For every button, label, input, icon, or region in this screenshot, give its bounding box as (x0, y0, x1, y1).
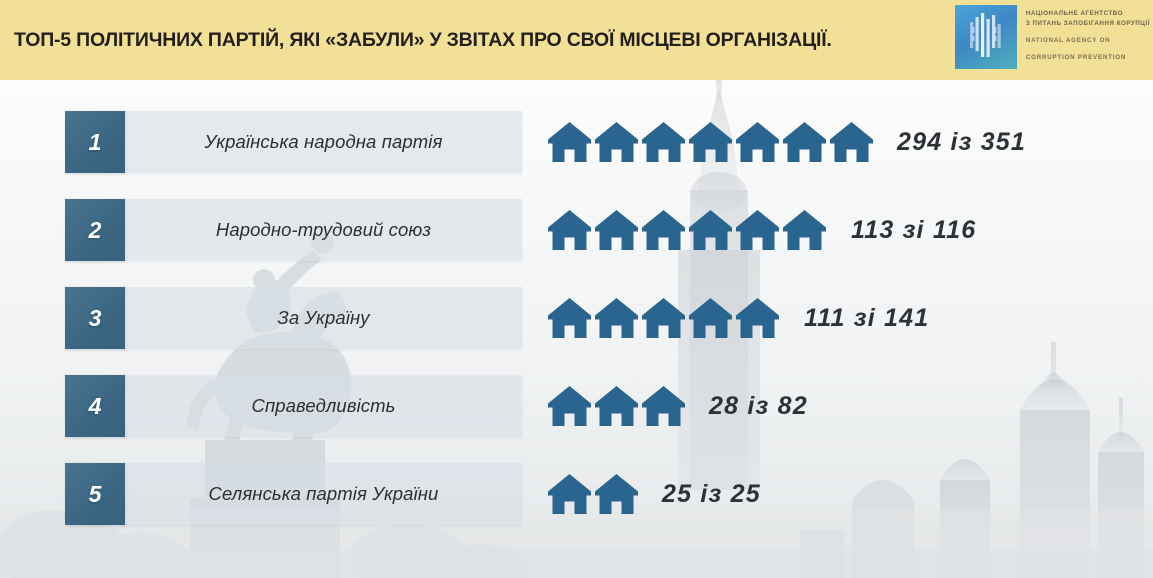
rank-number: 1 (89, 129, 102, 156)
party-name-label: Селянська партія України (209, 483, 439, 505)
party-name-bar: За Україну (125, 287, 522, 349)
house-icon (689, 210, 732, 250)
house-icon-group (548, 111, 873, 173)
infographic-root: ТОП-5 ПОЛІТИЧНИХ ПАРТІЙ, ЯКІ «ЗАБУЛИ» У … (0, 0, 1153, 578)
logo-en-line-2: CORRUPTION PREVENTION (1026, 53, 1150, 63)
house-icon-group (548, 375, 685, 437)
house-icon (548, 298, 591, 338)
house-icon (548, 210, 591, 250)
rank-badge: 4 (65, 375, 125, 437)
napc-bars-logo-icon (955, 5, 1017, 69)
rank-number: 5 (89, 481, 102, 508)
logo-uk-line-2: З ПИТАНЬ ЗАПОБІГАННЯ КОРУПЦІЇ (1026, 19, 1150, 29)
house-icon-group (548, 287, 779, 349)
count-value: 113 зі 116 (851, 199, 976, 261)
house-icon (642, 386, 685, 426)
ranking-row: 2Народно-трудовий союз113 зі 116 (0, 199, 1153, 261)
ranking-list: 1Українська народна партія294 із 3512Нар… (0, 80, 1153, 578)
house-icon (595, 210, 638, 250)
rank-badge: 1 (65, 111, 125, 173)
house-icon (830, 122, 873, 162)
house-icon (783, 122, 826, 162)
logo-text-block: НАЦІОНАЛЬНЕ АГЕНТСТВО З ПИТАНЬ ЗАПОБІГАН… (1026, 5, 1150, 63)
house-icon (548, 474, 591, 514)
house-icon (548, 386, 591, 426)
house-icon (642, 298, 685, 338)
rank-number: 4 (89, 393, 102, 420)
house-icon (595, 298, 638, 338)
count-value: 28 із 82 (709, 375, 808, 437)
logo-en-line-1: NATIONAL AGENCY ON (1026, 36, 1150, 46)
ranking-row: 4Справедливість28 із 82 (0, 375, 1153, 437)
house-icon (642, 122, 685, 162)
house-icon (642, 210, 685, 250)
party-name-bar: Справедливість (125, 375, 522, 437)
rank-number: 2 (89, 217, 102, 244)
ranking-row: 5Селянська партія України25 із 25 (0, 463, 1153, 525)
party-name-label: За Україну (277, 307, 369, 329)
party-name-label: Українська народна партія (205, 131, 443, 153)
party-name-label: Справедливість (252, 395, 396, 417)
house-icon (689, 122, 732, 162)
count-value: 25 із 25 (662, 463, 761, 525)
house-icon-group (548, 199, 826, 261)
party-name-label: Народно-трудовий союз (216, 219, 431, 241)
house-icon (595, 474, 638, 514)
house-icon (736, 122, 779, 162)
house-icon (736, 210, 779, 250)
party-name-bar: Українська народна партія (125, 111, 522, 173)
party-name-bar: Народно-трудовий союз (125, 199, 522, 261)
party-name-bar: Селянська партія України (125, 463, 522, 525)
count-value: 294 із 351 (897, 111, 1026, 173)
house-icon (689, 298, 732, 338)
logo-uk-line-1: НАЦІОНАЛЬНЕ АГЕНТСТВО (1026, 9, 1150, 19)
rank-badge: 5 (65, 463, 125, 525)
ranking-row: 1Українська народна партія294 із 351 (0, 111, 1153, 173)
napc-logo: НАЦІОНАЛЬНЕ АГЕНТСТВО З ПИТАНЬ ЗАПОБІГАН… (955, 5, 1150, 75)
ranking-row: 3За Україну111 зі 141 (0, 287, 1153, 349)
rank-badge: 3 (65, 287, 125, 349)
rank-badge: 2 (65, 199, 125, 261)
house-icon (548, 122, 591, 162)
house-icon-group (548, 463, 638, 525)
house-icon (595, 122, 638, 162)
rank-number: 3 (89, 305, 102, 332)
page-title: ТОП-5 ПОЛІТИЧНИХ ПАРТІЙ, ЯКІ «ЗАБУЛИ» У … (14, 29, 832, 51)
header-banner: ТОП-5 ПОЛІТИЧНИХ ПАРТІЙ, ЯКІ «ЗАБУЛИ» У … (0, 0, 1153, 80)
house-icon (595, 386, 638, 426)
house-icon (783, 210, 826, 250)
count-value: 111 зі 141 (804, 287, 929, 349)
house-icon (736, 298, 779, 338)
